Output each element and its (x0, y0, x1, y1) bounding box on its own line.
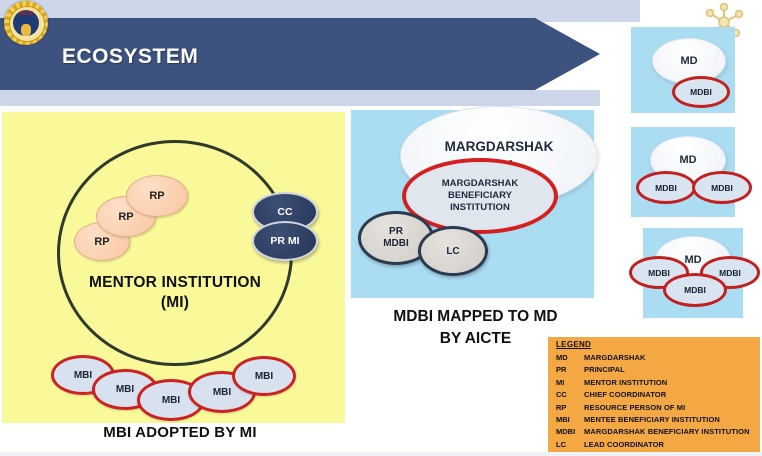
legend-abbr: MBI (556, 414, 584, 426)
md-node-label: MD (679, 154, 696, 166)
mdbi-node-label: MDBI (711, 183, 733, 193)
md-node-label: MD (684, 254, 701, 266)
pr-mdbi-label-line2: MDBI (383, 238, 409, 250)
mdbi-node-label: MDBI (690, 87, 712, 97)
rp-node-label: RP (149, 190, 164, 202)
mdbi-caption-line1: MDBI MAPPED TO MD (393, 308, 557, 325)
legend-abbr: CC (556, 389, 584, 401)
legend-row: PR PRINCIPAL (556, 364, 756, 376)
rp-node-label: RP (118, 211, 133, 223)
legend-abbr: MI (556, 377, 584, 389)
mbi-caption: MBI ADOPTED BY MI (35, 424, 325, 441)
legend-abbr: RP (556, 402, 584, 414)
legend-row: CC CHIEF COORDINATOR (556, 389, 756, 401)
lc-node-label: LC (446, 246, 459, 257)
slide-canvas: ECOSYSTEM AICTE MENTOR INST (0, 0, 762, 456)
mentor-institution-label: MENTOR INSTITUTION (MI) (70, 273, 280, 313)
mdbi-node-label: MDBI (648, 268, 670, 278)
pr-mi-node[interactable]: PR MI (252, 221, 318, 261)
legend-full: CHIEF COORDINATOR (584, 389, 756, 401)
header-bottom-strip (0, 90, 600, 106)
legend-abbr: LC (556, 439, 584, 451)
mbi-node-label: MBI (116, 384, 134, 395)
mdbi-node[interactable]: MDBI (636, 171, 696, 204)
legend-row: MDBI MARGDARSHAK BENEFICIARY INSTITUTION (556, 426, 756, 438)
legend-full: MENTEE BENEFICIARY INSTITUTION (584, 414, 756, 426)
page-title: ECOSYSTEM (62, 45, 198, 69)
rp-node[interactable]: RP (126, 175, 188, 217)
legend-row: LC LEAD COORDINATOR (556, 439, 756, 451)
legend-row: MI MENTOR INSTITUTION (556, 377, 756, 389)
cc-node-label: CC (277, 206, 292, 218)
legend-row: MD MARGDARSHAK (556, 352, 756, 364)
mdbi-node[interactable]: MDBI (672, 76, 730, 108)
mdbi-node[interactable]: MDBI (663, 273, 727, 307)
logo-emblem (21, 24, 31, 36)
mdbi-node-label-line1: MARGDARSHAK (442, 178, 519, 190)
mbi-node-label: MBI (162, 395, 180, 406)
aicte-logo-icon: AICTE (2, 0, 50, 46)
legend-abbr: MDBI (556, 426, 584, 438)
rp-node-label: RP (94, 236, 109, 248)
pr-mi-node-label: PR MI (270, 235, 299, 247)
mdbi-node-label: MDBI (655, 183, 677, 193)
footer-divider (0, 452, 762, 456)
mdbi-node-label: MDBI (719, 268, 741, 278)
legend-row: RP RESOURCE PERSON OF MI (556, 402, 756, 414)
md-node-label-line1: MARGDARSHAK (445, 137, 554, 156)
logo-sublabel (10, 19, 42, 23)
legend-rows: MD MARGDARSHAK PR PRINCIPAL MI MENTOR IN… (556, 352, 756, 451)
legend-full: MARGDARSHAK BENEFICIARY INSTITUTION (584, 426, 756, 438)
mdbi-node-label: MDBI (684, 285, 706, 295)
mdbi-node[interactable]: MDBI (692, 171, 752, 204)
md-node-label: MD (680, 55, 697, 67)
legend-box: LEGEND MD MARGDARSHAK PR PRINCIPAL MI ME… (548, 337, 760, 454)
legend-full: MENTOR INSTITUTION (584, 377, 756, 389)
legend-abbr: PR (556, 364, 584, 376)
lc-node[interactable]: LC (418, 226, 488, 276)
legend-full: LEAD COORDINATOR (584, 439, 756, 451)
mi-label-line2: (MI) (70, 293, 280, 313)
mbi-node-label: MBI (255, 371, 273, 382)
mdbi-node-label-line3: INSTITUTION (450, 202, 510, 214)
legend-row: MBI MENTEE BENEFICIARY INSTITUTION (556, 414, 756, 426)
pr-mdbi-label-line1: PR (389, 226, 403, 238)
mbi-node-label: MBI (74, 370, 92, 381)
mdbi-caption-line2: BY AICTE (440, 330, 511, 347)
legend-full: RESOURCE PERSON OF MI (584, 402, 756, 414)
logo-label: AICTE (13, 11, 39, 17)
mbi-node[interactable]: MBI (232, 356, 296, 396)
legend-abbr: MD (556, 352, 584, 364)
legend-full: MARGDARSHAK (584, 352, 756, 364)
legend-full: PRINCIPAL (584, 364, 756, 376)
mbi-node-label: MBI (213, 387, 231, 398)
legend-title: LEGEND (556, 340, 591, 349)
mdbi-node-label-line2: BENEFICIARY (448, 190, 512, 202)
mi-label-line1: MENTOR INSTITUTION (89, 274, 261, 291)
